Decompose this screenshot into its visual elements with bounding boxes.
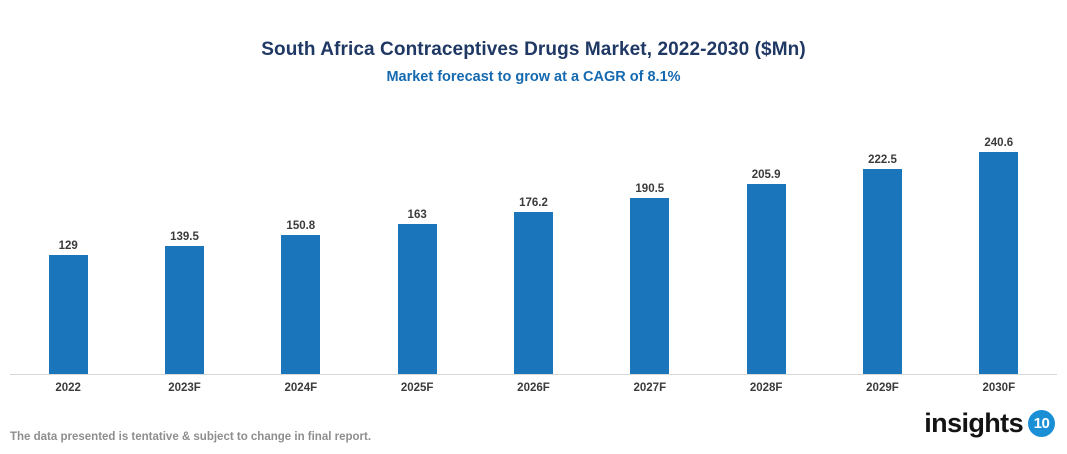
logo-badge-10: 10 (1028, 410, 1055, 437)
x-label-2030F: 2030F (982, 382, 1015, 394)
bar-slot: 139.5 (126, 110, 242, 375)
x-label-2022: 2022 (55, 382, 81, 394)
x-label-2026F: 2026F (517, 382, 550, 394)
bar-2026F[interactable] (514, 212, 553, 375)
bar-value-label: 163 (408, 209, 427, 221)
bar-slot: 163 (359, 110, 475, 375)
bar-value-label: 222.5 (868, 154, 897, 166)
bar-slot: 150.8 (243, 110, 359, 375)
x-label-slot: 2029F (824, 378, 940, 396)
logo-wordmark: insights (924, 408, 1023, 438)
bar-2030F[interactable] (979, 152, 1018, 375)
x-label-2024F: 2024F (285, 382, 318, 394)
bar-slot: 129 (10, 110, 126, 375)
bar-2027F[interactable] (630, 198, 669, 375)
chart-canvas: South Africa Contraceptives Drugs Market… (0, 0, 1067, 454)
plot-area: 129139.5150.8163176.2190.5205.9222.5240.… (0, 110, 1067, 375)
title-block: South Africa Contraceptives Drugs Market… (0, 38, 1067, 86)
bar-value-label: 190.5 (635, 183, 664, 195)
x-label-slot: 2024F (243, 378, 359, 396)
bar-slot: 190.5 (592, 110, 708, 375)
x-label-slot: 2022 (10, 378, 126, 396)
x-label-2028F: 2028F (750, 382, 783, 394)
bar-2023F[interactable] (165, 246, 204, 375)
x-label-2023F: 2023F (168, 382, 201, 394)
x-label-slot: 2023F (126, 378, 242, 396)
bar-value-label: 205.9 (752, 169, 781, 181)
bar-slot: 205.9 (708, 110, 824, 375)
chart-subtitle: Market forecast to grow at a CAGR of 8.1… (0, 68, 1067, 86)
x-label-slot: 2025F (359, 378, 475, 396)
x-axis-labels: 20222023F2024F2025F2026F2027F2028F2029F2… (10, 378, 1057, 396)
bar-series: 129139.5150.8163176.2190.5205.9222.5240.… (10, 110, 1057, 375)
bar-2024F[interactable] (281, 235, 320, 375)
x-label-slot: 2027F (592, 378, 708, 396)
x-label-slot: 2026F (475, 378, 591, 396)
bar-2028F[interactable] (747, 184, 786, 375)
x-label-slot: 2028F (708, 378, 824, 396)
bar-value-label: 176.2 (519, 197, 548, 209)
x-label-2029F: 2029F (866, 382, 899, 394)
bar-slot: 176.2 (475, 110, 591, 375)
x-label-2027F: 2027F (634, 382, 667, 394)
bar-slot: 240.6 (941, 110, 1057, 375)
bar-value-label: 129 (59, 240, 78, 252)
bar-2029F[interactable] (863, 169, 902, 375)
x-label-slot: 2030F (941, 378, 1057, 396)
bar-value-label: 139.5 (170, 231, 199, 243)
insights10-logo: insights 10 (924, 408, 1055, 438)
x-axis-line (10, 374, 1057, 375)
bar-value-label: 240.6 (984, 137, 1013, 149)
disclaimer-text: The data presented is tentative & subjec… (10, 430, 371, 444)
chart-title: South Africa Contraceptives Drugs Market… (0, 38, 1067, 62)
bar-2025F[interactable] (398, 224, 437, 375)
bar-slot: 222.5 (824, 110, 940, 375)
x-label-2025F: 2025F (401, 382, 434, 394)
bar-2022[interactable] (49, 255, 88, 375)
bar-value-label: 150.8 (286, 220, 315, 232)
